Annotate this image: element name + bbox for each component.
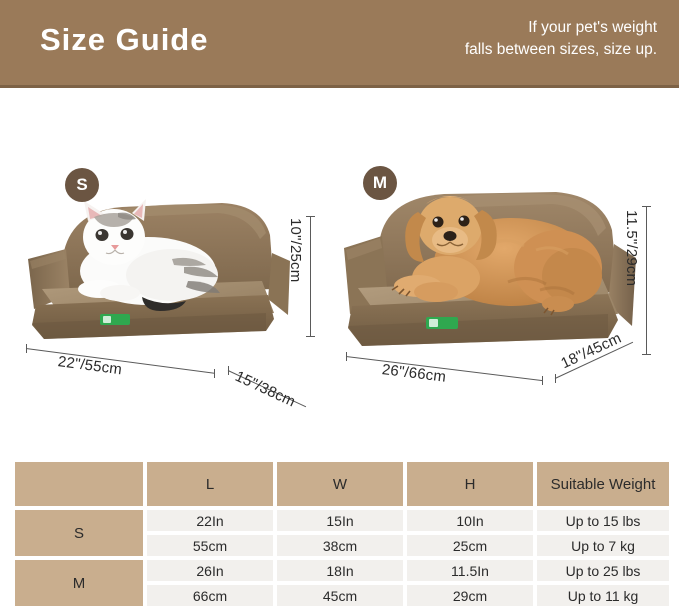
dim-cap-medium-length-left	[346, 352, 347, 361]
table-row: M 26In 66cm 18In 45cm 11.5In 29cm Up to …	[15, 560, 665, 606]
table-cell-length-m: 26In 66cm	[147, 560, 273, 606]
table-cell-weight-s-lbs: Up to 15 lbs	[537, 510, 669, 531]
dim-label-small-depth: 15"/38cm	[232, 368, 298, 411]
dim-label-small-length: 22"/55cm	[57, 353, 123, 378]
subtitle-line-2: falls between sizes, size up.	[377, 39, 657, 61]
dim-label-small-height: 10"/25cm	[287, 218, 304, 282]
table-cell-length-s-metric: 55cm	[147, 535, 273, 556]
table-cell-width-s: 15In 38cm	[277, 510, 403, 556]
table-cell-weight-m: Up to 25 lbs Up to 11 kg	[537, 560, 669, 606]
size-badge-s: S	[65, 168, 99, 202]
table-header-row: L W H Suitable Weight	[15, 462, 665, 506]
table-cell-weight-s: Up to 15 lbs Up to 7 kg	[537, 510, 669, 556]
table-header-height: H	[407, 462, 533, 506]
table-header-weight: Suitable Weight	[537, 462, 669, 506]
size-badge-m: M	[363, 166, 397, 200]
dim-cap-small-depth-left	[228, 366, 229, 375]
table-cell-height-s-metric: 25cm	[407, 535, 533, 556]
subtitle-line-1: If your pet's weight	[377, 17, 657, 39]
table-cell-width-s-inches: 15In	[277, 510, 403, 531]
pet-bed-small-image	[22, 193, 297, 343]
header-banner: Size Guide If your pet's weight falls be…	[0, 0, 679, 88]
table-cell-height-s-inches: 10In	[407, 510, 533, 531]
table-cell-length-m-inches: 26In	[147, 560, 273, 581]
table-cell-length-s-inches: 22In	[147, 510, 273, 531]
table-header-length: L	[147, 462, 273, 506]
dim-label-medium-length: 26"/66cm	[381, 361, 447, 386]
dim-cap-medium-height-top	[642, 206, 651, 207]
table-cell-width-m-inches: 18In	[277, 560, 403, 581]
table-cell-height-m-inches: 11.5In	[407, 560, 533, 581]
table-cell-width-s-metric: 38cm	[277, 535, 403, 556]
table-cell-width-m: 18In 45cm	[277, 560, 403, 606]
product-panel-medium: M	[340, 88, 679, 450]
table-header-size	[15, 462, 143, 506]
table-cell-length-s: 22In 55cm	[147, 510, 273, 556]
table-header-width: W	[277, 462, 403, 506]
dim-cap-small-length-right	[214, 369, 215, 378]
size-badge-m-label: M	[373, 173, 387, 193]
table-row: S 22In 55cm 15In 38cm 10In 25cm Up to 15…	[15, 510, 665, 556]
dim-cap-small-height-top	[306, 216, 315, 217]
dim-cap-small-height-bottom	[306, 336, 315, 337]
header-subtitle: If your pet's weight falls between sizes…	[377, 17, 657, 61]
size-table: L W H Suitable Weight S 22In 55cm 15In 3…	[15, 462, 665, 606]
table-cell-height-s: 10In 25cm	[407, 510, 533, 556]
dim-label-medium-height: 11.5"/29cm	[623, 210, 640, 286]
table-cell-weight-s-kg: Up to 7 kg	[537, 535, 669, 556]
table-cell-height-m: 11.5In 29cm	[407, 560, 533, 606]
product-panel-small: S	[0, 88, 340, 450]
dim-cap-medium-depth-left	[555, 374, 556, 383]
table-cell-size-m: M	[15, 560, 143, 606]
size-badge-s-label: S	[76, 175, 87, 195]
table-cell-weight-m-lbs: Up to 25 lbs	[537, 560, 669, 581]
product-illustration-area: S	[0, 88, 679, 450]
page-title: Size Guide	[40, 22, 208, 58]
dim-line-small-height	[310, 216, 311, 336]
table-cell-size-s: S	[15, 510, 143, 556]
dim-cap-medium-height-bottom	[642, 354, 651, 355]
pet-bed-medium-image	[340, 186, 640, 354]
dim-cap-medium-length-right	[542, 376, 543, 385]
dim-cap-small-length-left	[26, 344, 27, 353]
dim-line-medium-height	[646, 206, 647, 354]
